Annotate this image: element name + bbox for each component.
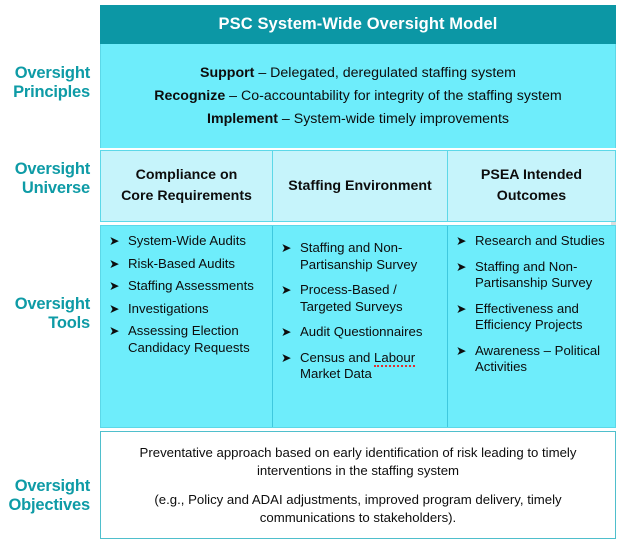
universe-column-staffing-environment: Staffing Environment (273, 151, 448, 221)
list-item-label: Investigations (128, 301, 268, 318)
principle-keyword: Support (200, 65, 254, 81)
rail-label-line-2: Tools (0, 314, 90, 333)
principle-text: Delegated, deregulated staffing system (270, 65, 516, 81)
model-table: PSC System-Wide Oversight Model Support … (100, 5, 616, 541)
arrow-bullet-icon: ➤ (281, 282, 300, 299)
principle-dash: – (225, 88, 241, 104)
list-item-label-part: Census and (300, 350, 374, 365)
arrow-bullet-icon: ➤ (281, 240, 300, 257)
principle-dash: – (254, 65, 270, 81)
arrow-bullet-icon: ➤ (456, 259, 475, 276)
list-item: ➤ Census and Labour Market Data (281, 350, 443, 383)
arrow-bullet-icon: ➤ (456, 301, 475, 318)
arrow-bullet-icon: ➤ (109, 301, 128, 318)
universe-column-compliance: Compliance on Core Requirements (101, 151, 273, 221)
rail-label-line-1: Oversight (0, 160, 90, 179)
list-item: ➤ Assessing Election Candidacy Requests (109, 323, 268, 356)
list-item: ➤ Staffing Assessments (109, 278, 268, 295)
tools-bullet-list: ➤ Research and Studies ➤ Staffing and No… (456, 233, 611, 376)
universe-heading-line-2: Core Requirements (121, 186, 252, 207)
tools-row: ➤ System-Wide Audits ➤ Risk-Based Audits… (100, 225, 616, 428)
arrow-bullet-icon: ➤ (281, 324, 300, 341)
arrow-bullet-icon: ➤ (281, 350, 300, 367)
principle-line: Implement – System-wide timely improveme… (207, 111, 509, 128)
list-item: ➤ Research and Studies (456, 233, 611, 250)
principle-keyword: Recognize (154, 88, 225, 104)
list-item-label: Audit Questionnaires (300, 324, 443, 341)
list-item-label: Staffing and Non-Partisanship Survey (475, 259, 611, 292)
list-item-label: Effectiveness and Efficiency Projects (475, 301, 611, 334)
tools-column-staffing-environment: ➤ Staffing and Non-Partisanship Survey ➤… (273, 226, 448, 427)
list-item: ➤ System-Wide Audits (109, 233, 268, 250)
tools-bullet-list: ➤ System-Wide Audits ➤ Risk-Based Audits… (109, 233, 268, 356)
rail-label-oversight-principles: Oversight Principles (0, 64, 96, 102)
arrow-bullet-icon: ➤ (456, 343, 475, 360)
list-item-label: Risk-Based Audits (128, 256, 268, 273)
list-item-label: Assessing Election Candidacy Requests (128, 323, 268, 356)
universe-heading-line-1: PSEA Intended (481, 165, 582, 186)
list-item: ➤ Investigations (109, 301, 268, 318)
objective-paragraph: (e.g., Policy and ADAI adjustments, impr… (117, 491, 599, 526)
list-item: ➤ Staffing and Non-Partisanship Survey (281, 240, 443, 273)
list-item-label: Staffing Assessments (128, 278, 268, 295)
principle-line: Support – Delegated, deregulated staffin… (200, 65, 516, 82)
universe-row: Compliance on Core Requirements Staffing… (100, 150, 616, 222)
rail-label-oversight-tools: Oversight Tools (0, 295, 96, 333)
rail-label-line-2: Universe (0, 179, 90, 198)
universe-column-psea-outcomes: PSEA Intended Outcomes (448, 151, 615, 221)
list-item-label: Awareness – Political Activities (475, 343, 611, 376)
objectives-row: Preventative approach based on early ide… (100, 431, 616, 539)
rail-label-oversight-objectives: Oversight Objectives (0, 477, 96, 515)
arrow-bullet-icon: ➤ (109, 256, 128, 273)
arrow-bullet-icon: ➤ (109, 323, 128, 340)
universe-heading-line-1: Staffing Environment (288, 176, 431, 197)
principle-dash: – (278, 111, 294, 127)
objective-paragraph: Preventative approach based on early ide… (117, 444, 599, 479)
principle-text: Co-accountability for integrity of the s… (241, 88, 562, 104)
list-item-label: Staffing and Non-Partisanship Survey (300, 240, 443, 273)
universe-heading-line-2: Outcomes (481, 186, 582, 207)
model-title: PSC System-Wide Oversight Model (219, 15, 498, 34)
arrow-bullet-icon: ➤ (109, 233, 128, 250)
list-item: ➤ Process-Based / Targeted Surveys (281, 282, 443, 315)
arrow-bullet-icon: ➤ (109, 278, 128, 295)
principle-line: Recognize – Co-accountability for integr… (154, 88, 561, 105)
model-title-bar: PSC System-Wide Oversight Model (100, 5, 616, 44)
list-item-label: Process-Based / Targeted Surveys (300, 282, 443, 315)
arrow-bullet-icon: ➤ (456, 233, 475, 250)
rail-label-oversight-universe: Oversight Universe (0, 160, 96, 198)
tools-column-psea-outcomes: ➤ Research and Studies ➤ Staffing and No… (448, 226, 615, 427)
spellcheck-flagged-word: Labour (374, 350, 415, 367)
tools-bullet-list: ➤ Staffing and Non-Partisanship Survey ➤… (281, 240, 443, 383)
list-item-label: System-Wide Audits (128, 233, 268, 250)
rail-label-line-1: Oversight (0, 477, 90, 496)
list-item: ➤ Effectiveness and Efficiency Projects (456, 301, 611, 334)
rail-label-line-2: Objectives (0, 496, 90, 515)
rail-label-line-1: Oversight (0, 64, 90, 83)
list-item: ➤ Risk-Based Audits (109, 256, 268, 273)
list-item: ➤ Staffing and Non-Partisanship Survey (456, 259, 611, 292)
list-item: ➤ Awareness – Political Activities (456, 343, 611, 376)
list-item: ➤ Audit Questionnaires (281, 324, 443, 341)
principle-keyword: Implement (207, 111, 278, 127)
oversight-model-diagram: Oversight Principles Oversight Universe … (0, 0, 624, 546)
tools-column-compliance: ➤ System-Wide Audits ➤ Risk-Based Audits… (101, 226, 273, 427)
principles-band: Support – Delegated, deregulated staffin… (100, 44, 616, 148)
list-item-label-composite: Census and Labour Market Data (300, 350, 443, 383)
rail-label-line-2: Principles (0, 83, 90, 102)
principle-text: System-wide timely improvements (294, 111, 509, 127)
universe-heading-line-1: Compliance on (121, 165, 252, 186)
rail-label-line-1: Oversight (0, 295, 90, 314)
list-item-label: Research and Studies (475, 233, 611, 250)
list-item-label-part: Market Data (300, 366, 372, 381)
